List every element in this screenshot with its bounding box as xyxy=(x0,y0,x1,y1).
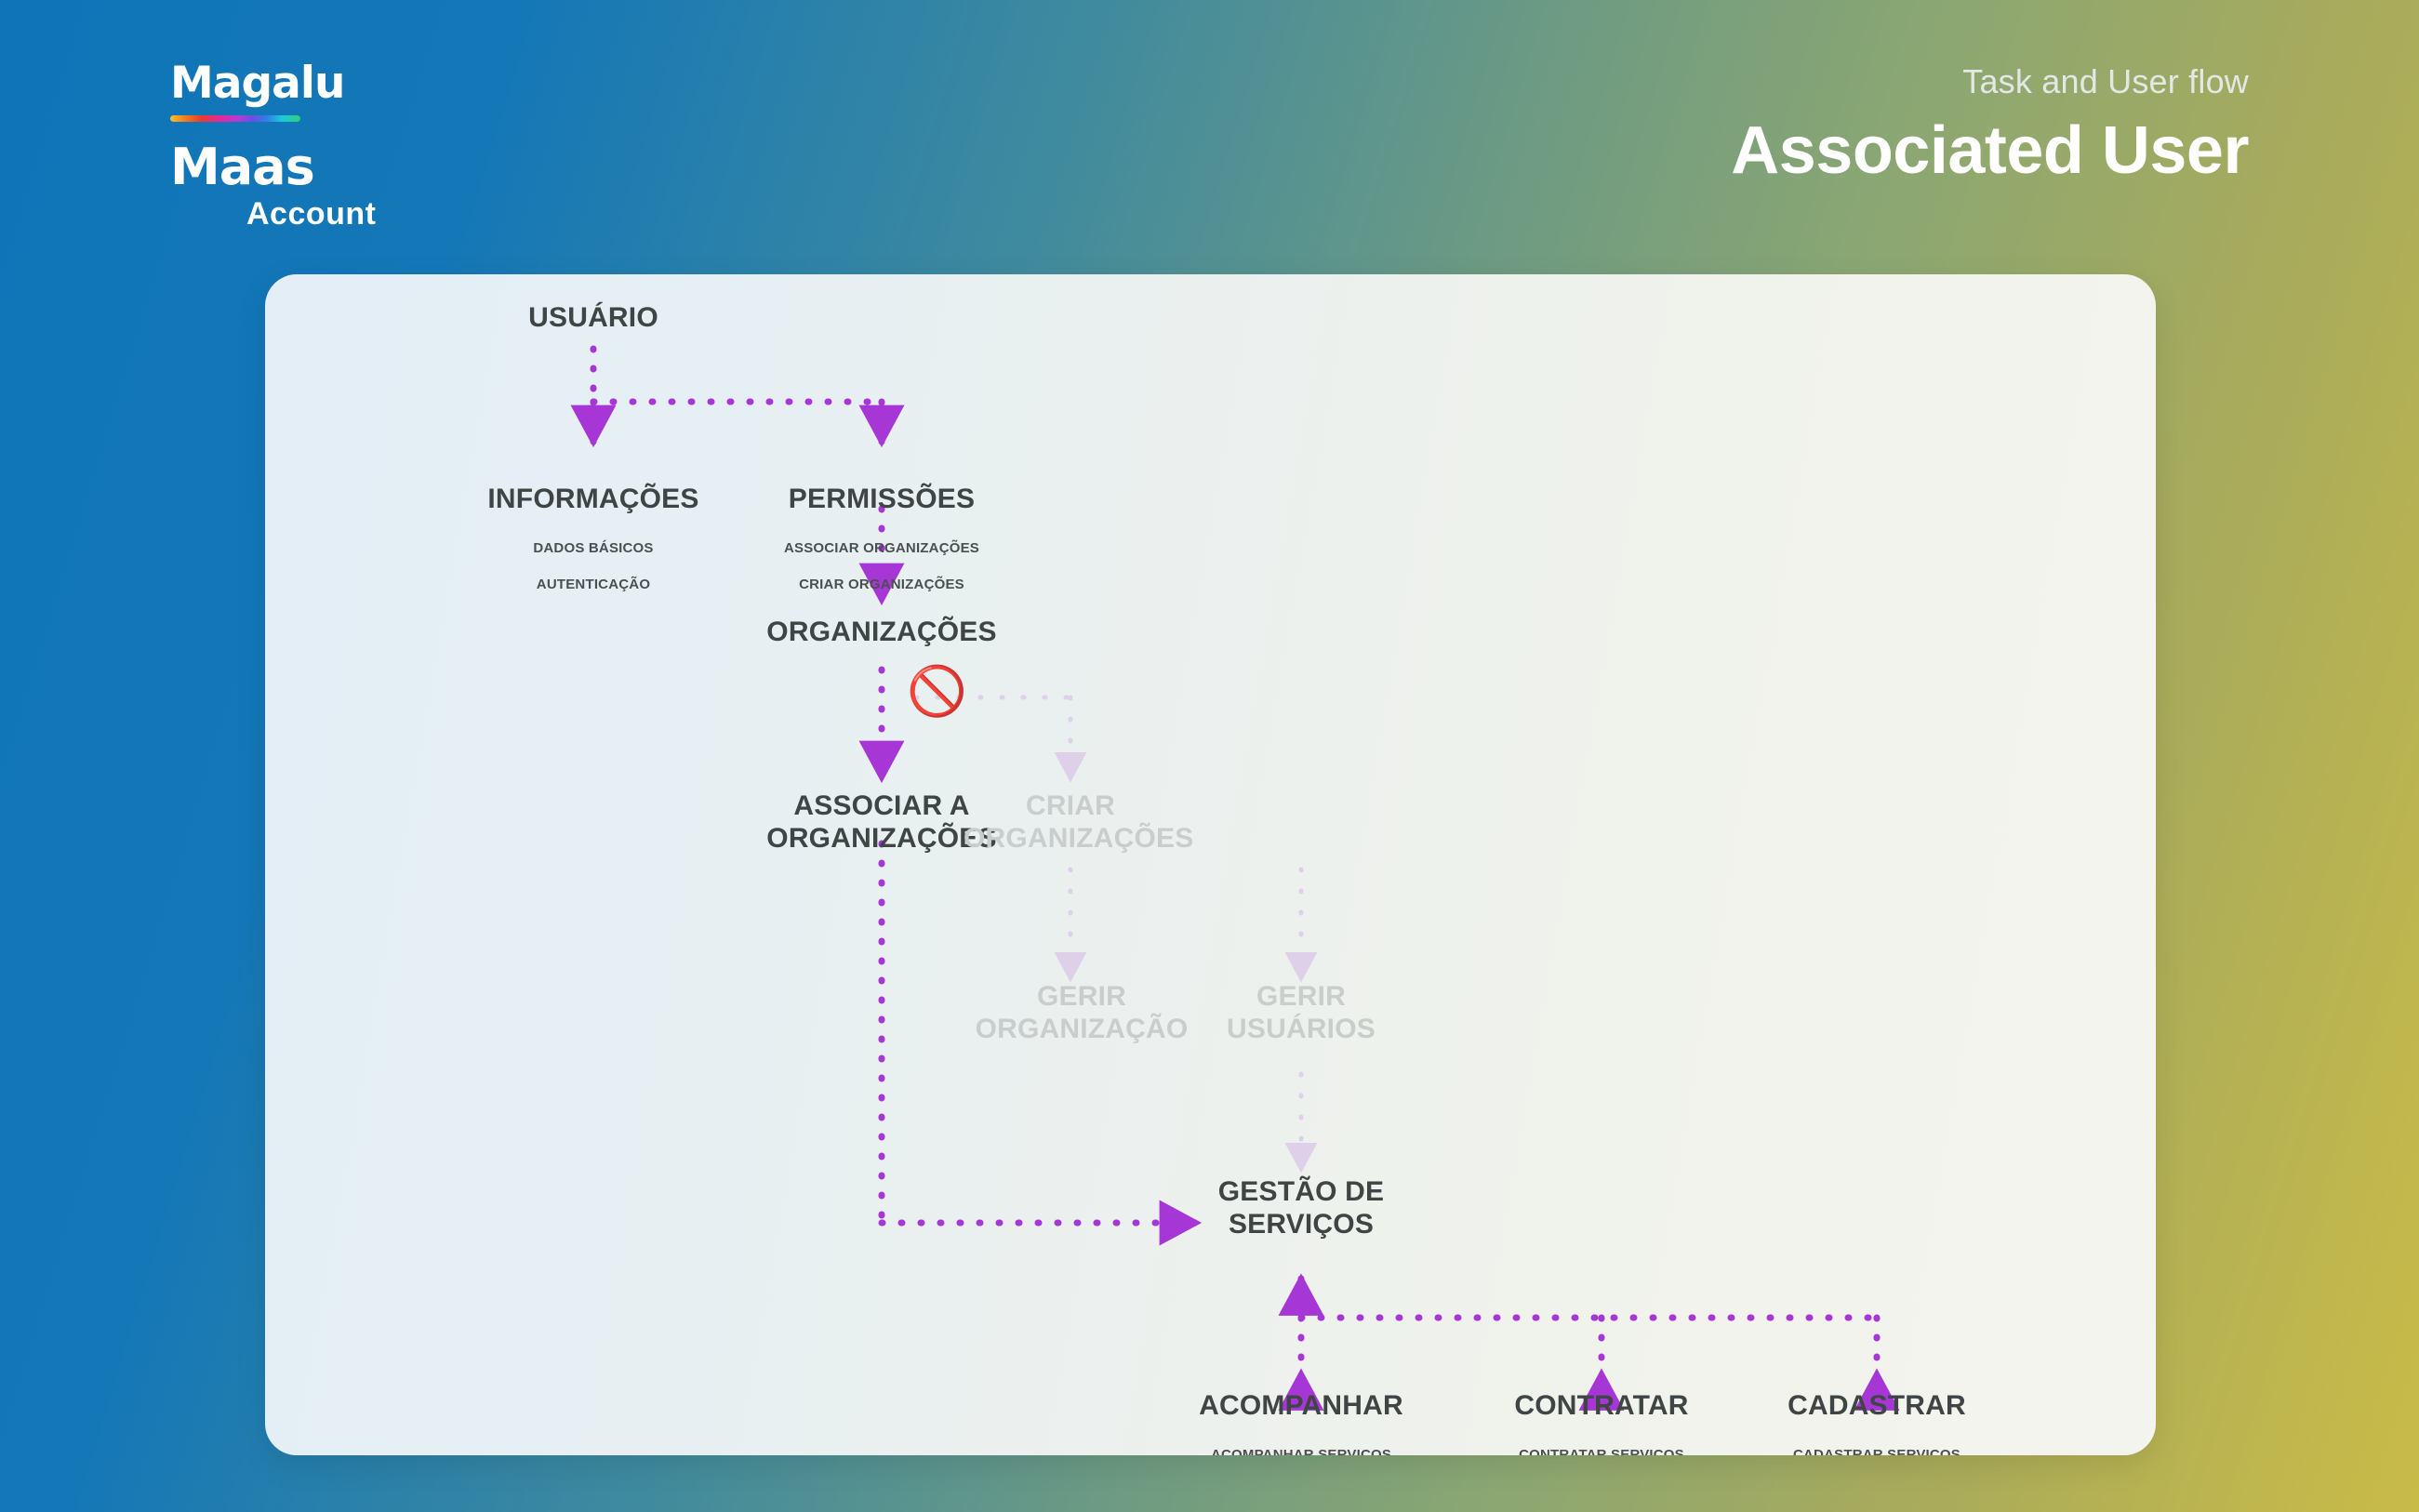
node-title: INFORMAÇÕES xyxy=(487,484,698,516)
flow-node-acompanhar[interactable]: ACOMPANHAR ACOMPANHAR SERVIÇOS xyxy=(1199,1390,1403,1455)
node-sub: AUTENTICAÇÃO xyxy=(487,577,698,592)
flow-node-organizacoes[interactable]: ORGANIZAÇÕES xyxy=(766,617,996,649)
prohibited-icon: 🚫 xyxy=(907,668,967,716)
node-title: ORGANIZAÇÕES xyxy=(766,617,996,649)
node-title: CONTRATAR xyxy=(1514,1390,1688,1423)
page-title: Associated User xyxy=(1731,117,2249,184)
node-sub: ASSOCIAR ORGANIZAÇÕES xyxy=(784,540,979,556)
flow-node-informacoes[interactable]: INFORMAÇÕES DADOS BÁSICOS AUTENTICAÇÃO xyxy=(487,484,698,592)
gradient-rule-icon xyxy=(170,115,300,122)
flow-node-cadastrar[interactable]: CADASTRAR CADASTRAR SERVIÇOS xyxy=(1788,1390,1966,1455)
node-title: CADASTRAR xyxy=(1788,1390,1966,1423)
node-sub: CRIAR ORGANIZAÇÕES xyxy=(784,577,979,592)
header-kicker: Task and User flow xyxy=(1731,65,2249,99)
flow-node-usuario[interactable]: USUÁRIO xyxy=(528,302,658,335)
node-title: PERMISSÕES xyxy=(784,484,979,516)
flow-node-contratar[interactable]: CONTRATAR CONTRATAR SERVIÇOS xyxy=(1514,1390,1688,1455)
node-sub: ACOMPANHAR SERVIÇOS xyxy=(1199,1447,1403,1455)
brand-logo: Magalu Maas Account xyxy=(170,61,486,230)
flow-node-gerir-usuarios[interactable]: GERIR USUÁRIOS xyxy=(1208,981,1394,1046)
flow-edges xyxy=(265,274,2156,1455)
flow-diagram-card: 🚫 USUÁRIO INFORMAÇÕES DADOS BÁSICOS AUTE… xyxy=(265,274,2156,1455)
flow-node-criar-organizacoes[interactable]: CRIAR ORGANIZAÇÕES xyxy=(964,790,1177,855)
node-sub: CONTRATAR SERVIÇOS xyxy=(1514,1447,1688,1455)
header: Task and User flow Associated User xyxy=(1731,65,2249,184)
node-title: GERIR USUÁRIOS xyxy=(1208,981,1394,1046)
flow-node-gestao-de-servicos[interactable]: GESTÃO DE SERVIÇOS xyxy=(1203,1176,1399,1241)
account-wordmark: Account xyxy=(246,198,486,230)
flow-node-permissoes[interactable]: PERMISSÕES ASSOCIAR ORGANIZAÇÕES CRIAR O… xyxy=(784,484,979,592)
node-sub: DADOS BÁSICOS xyxy=(487,540,698,556)
node-title: ACOMPANHAR xyxy=(1199,1390,1403,1423)
node-title: GERIR ORGANIZAÇÃO xyxy=(961,981,1203,1046)
flow-node-gerir-organizacao[interactable]: GERIR ORGANIZAÇÃO xyxy=(961,981,1203,1046)
flow-canvas: 🚫 USUÁRIO INFORMAÇÕES DADOS BÁSICOS AUTE… xyxy=(265,274,2156,1455)
node-title: USUÁRIO xyxy=(528,302,658,335)
node-title: CRIAR ORGANIZAÇÕES xyxy=(964,790,1177,855)
magalu-wordmark: Magalu xyxy=(170,61,486,105)
maas-wordmark: Maas xyxy=(170,142,486,192)
node-sub: CADASTRAR SERVIÇOS xyxy=(1788,1447,1966,1455)
node-title: GESTÃO DE SERVIÇOS xyxy=(1203,1176,1399,1241)
